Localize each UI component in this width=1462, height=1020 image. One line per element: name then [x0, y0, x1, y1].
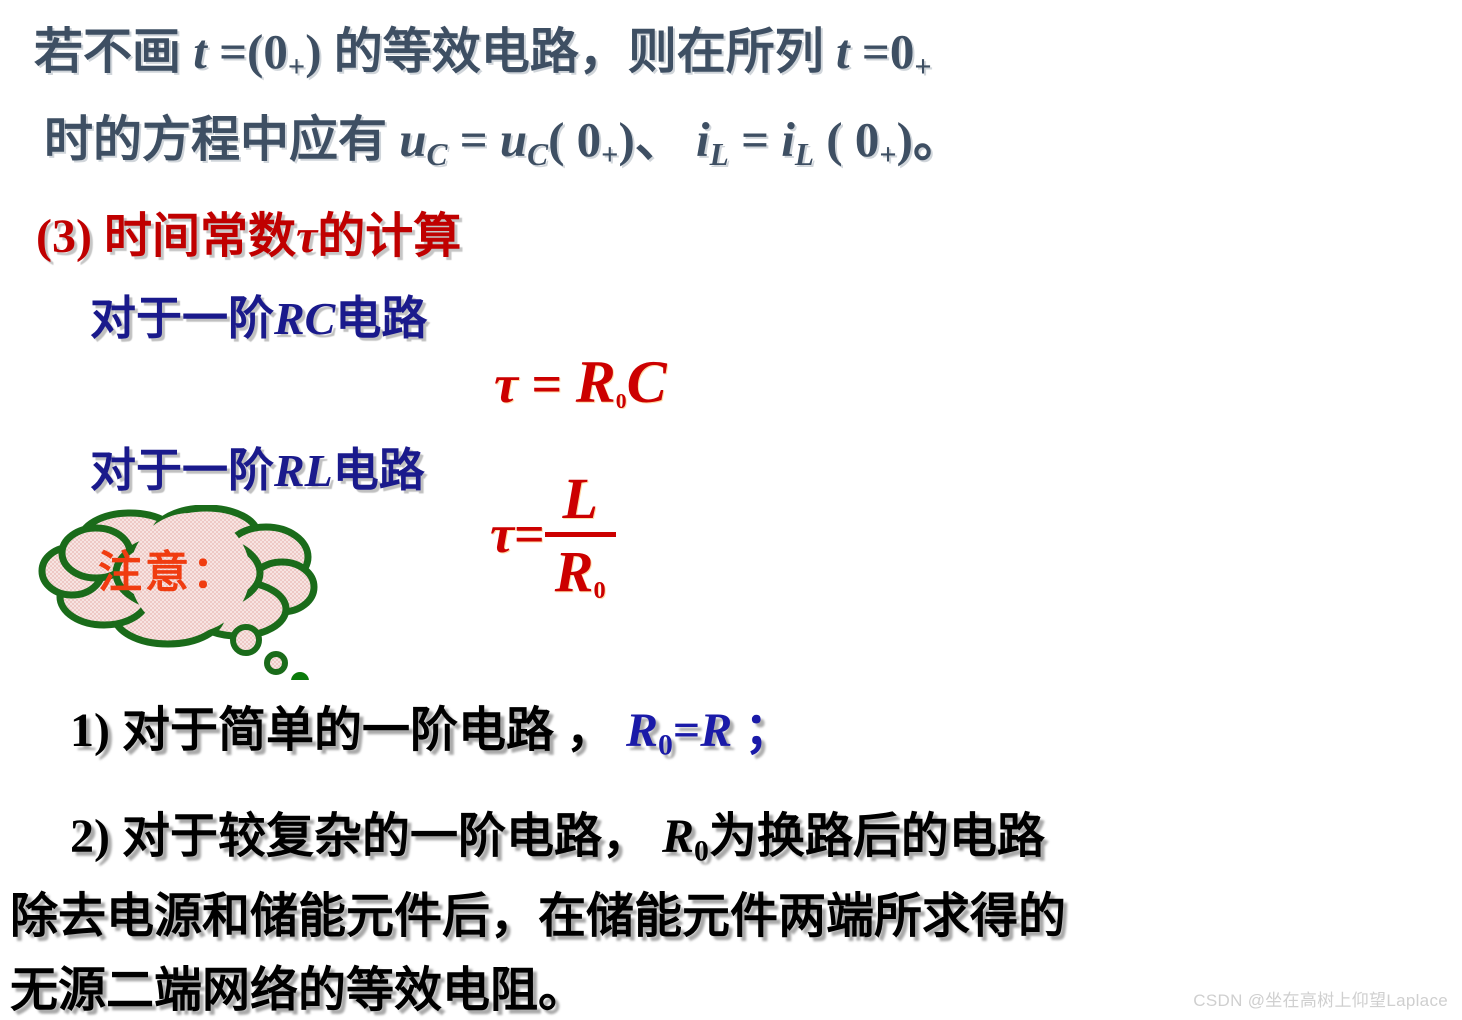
p1-paren-open-2: ( 0: [814, 112, 879, 167]
rc-formula-C: C: [627, 349, 667, 415]
rl-label-pre: 对于一阶: [90, 445, 274, 496]
p1-paren-close-1: )、: [618, 112, 696, 167]
p1-text-c: ) 的等效电路，则在所列: [305, 24, 836, 79]
note-1-R-subscript: 0: [658, 728, 673, 761]
note-item-2-line-2: 除去电源和储能元件后，在储能元件两端所求得的: [10, 876, 1066, 946]
note-2-text-post: 为换路后的电路: [709, 810, 1045, 863]
p1-var-u-1: u: [399, 112, 426, 167]
rc-time-constant-formula: τ = R0C: [494, 348, 667, 417]
rc-formula-R-subscript: 0: [616, 389, 627, 413]
rc-circuit-label: 对于一阶RC电路: [90, 282, 427, 348]
note-item-2-line-1: 2) 对于较复杂的一阶电路， R0为换路后的电路: [70, 796, 1045, 868]
note-2-text-pre: 2) 对于较复杂的一阶电路，: [70, 810, 662, 863]
p1-var-u-2: u: [500, 112, 527, 167]
note-bubble-label: 注意：: [98, 536, 239, 600]
p1-text-d: =0: [850, 24, 915, 79]
rl-label-post: 电路: [333, 445, 425, 496]
rl-fraction-bar: [545, 532, 616, 537]
p1-var-t-2: t: [836, 24, 850, 79]
p1-sub-c-1: C: [427, 137, 448, 172]
rl-label-symbol: RL: [274, 445, 333, 496]
rl-formula-tau: τ: [490, 503, 514, 571]
note-1-R: R: [626, 704, 658, 757]
rc-formula-R: R: [576, 349, 616, 415]
rl-formula-fraction: LR0: [545, 470, 616, 603]
p1-var-i-1: i: [696, 112, 710, 167]
p1-text-a: 若不画: [34, 24, 193, 79]
p1-sub-l-1: L: [710, 137, 729, 172]
rl-fraction-denominator: R0: [545, 541, 616, 603]
section-3-label-post: 的计算: [317, 210, 461, 263]
rl-den-R-subscript: 0: [593, 577, 605, 604]
section-3-number: (3): [36, 210, 104, 263]
csdn-watermark: CSDN @坐在高树上仰望Laplace: [1193, 986, 1448, 1011]
note-2-R: R: [662, 810, 694, 863]
thought-bubble-trail: [233, 627, 285, 672]
rl-circuit-label: 对于一阶RL电路: [90, 434, 425, 500]
note-1-equals: =: [673, 704, 700, 757]
p1-sub-plus-3: +: [601, 138, 618, 172]
section-3-heading: (3) 时间常数τ的计算: [36, 196, 461, 266]
rc-label-pre: 对于一阶: [90, 293, 274, 344]
paragraph-1-line-2: 时的方程中应有 uC = uC( 0+)、 iL = iL ( 0+)。: [44, 100, 962, 173]
paragraph-1-line-1: 若不画 t =(0+) 的等效电路，则在所列 t =0+: [34, 12, 932, 85]
note-item-1: 1) 对于简单的一阶电路 ， R0=R ；: [70, 690, 792, 762]
rl-den-R: R: [555, 539, 594, 604]
p1-sub-c-2: C: [527, 137, 548, 172]
p1-var-t: t: [193, 24, 207, 79]
note-item-2-line-3: 无源二端网络的等效电阻。: [10, 950, 586, 1020]
p1-sub-l-2: L: [795, 137, 814, 172]
note-1-text: 1) 对于简单的一阶电路 ，: [70, 704, 626, 757]
rc-formula-tau: τ: [494, 354, 518, 414]
rc-label-post: 电路: [335, 293, 427, 344]
p1-sub-plus-2: +: [914, 50, 931, 84]
slide-canvas: 若不画 t =(0+) 的等效电路，则在所列 t =0+ 时的方程中应有 uC …: [0, 0, 1462, 1019]
section-3-label-pre: 时间常数: [104, 210, 296, 263]
rl-time-constant-formula: τ = LR0: [490, 470, 616, 603]
rl-formula-equals: =: [514, 503, 545, 571]
p1-text-b: =(0: [207, 24, 288, 79]
p1-paren-close-2: )。: [897, 112, 962, 167]
note-1-R-2: R: [700, 704, 732, 757]
p1-line2-text-a: 时的方程中应有: [44, 112, 399, 167]
p1-eq-1: =: [447, 112, 499, 167]
thought-bubble-trail-dot-3: [291, 672, 309, 680]
note-1-semicolon: ；: [732, 704, 792, 757]
note-2-R-subscript: 0: [694, 834, 709, 867]
p1-sub-plus-1: +: [288, 50, 305, 84]
rc-formula-equals: =: [518, 354, 576, 414]
tau-symbol-heading: τ: [296, 210, 317, 263]
rc-label-symbol: RC: [274, 293, 335, 344]
rl-fraction-numerator: L: [545, 470, 616, 530]
p1-sub-plus-4: +: [879, 138, 896, 172]
p1-paren-open-1: ( 0: [548, 112, 601, 167]
p1-var-i-2: i: [781, 112, 795, 167]
p1-eq-2: =: [729, 112, 781, 167]
